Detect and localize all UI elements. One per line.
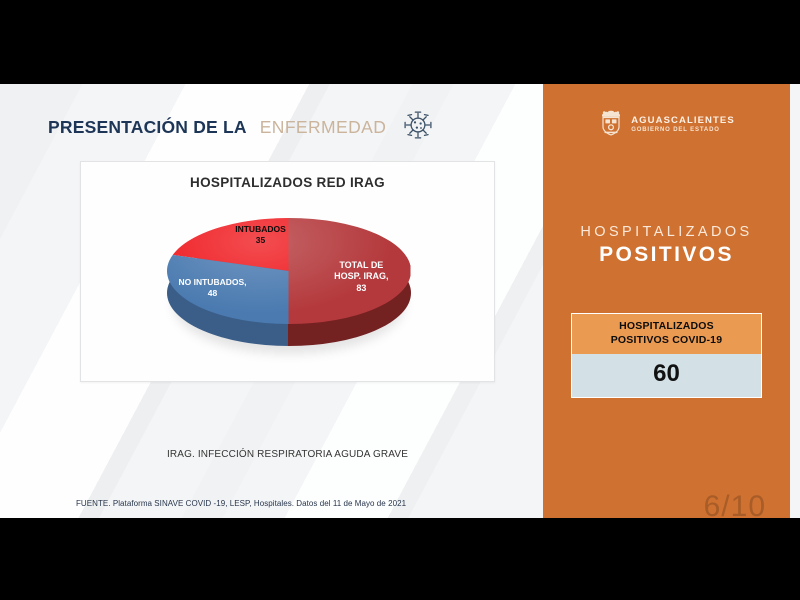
page-number: 6/10 (704, 490, 766, 518)
pie-label-intubados-value: 35 (235, 235, 286, 246)
brand-text: AGUASCALIENTES GOBIERNO DEL ESTADO (631, 116, 735, 134)
chart-card: HOSPITALIZADOS RED IRAG INTUBADOS 35 NO … (80, 161, 495, 382)
headline-strong-text: PRESENTACIÓN DE LA (48, 117, 247, 138)
panel-heading: HOSPITALIZADOS POSITIVOS (543, 224, 790, 267)
pie-label-no-intubados-name: NO INTUBADOS, (179, 277, 247, 288)
stat-card-header: HOSPITALIZADOS POSITIVOS COVID-19 (572, 314, 761, 354)
brand-lockup: AGUASCALIENTES GOBIERNO DEL ESTADO (543, 107, 790, 142)
slide-headline: PRESENTACIÓN DE LA ENFERMEDAD (48, 110, 433, 145)
screenshot-viewport: PRESENTACIÓN DE LA ENFERMEDAD (0, 0, 800, 600)
headline-light-text: ENFERMEDAD (260, 117, 387, 138)
pie-label-total-name-line1: TOTAL DE (334, 260, 388, 271)
stat-card-title-line2: POSITIVOS COVID-19 (576, 334, 757, 348)
brand-sub: GOBIERNO DEL ESTADO (631, 127, 735, 133)
stat-card-title-line1: HOSPITALIZADOS (576, 320, 757, 334)
pie-label-intubados: INTUBADOS 35 (235, 224, 286, 245)
panel-heading-top: HOSPITALIZADOS (543, 224, 790, 240)
chart-title: HOSPITALIZADOS RED IRAG (81, 175, 494, 190)
stat-card-value: 60 (572, 354, 761, 397)
coat-of-arms-icon (598, 107, 624, 142)
pie-label-total-value: 83 (334, 283, 388, 294)
coronavirus-icon (403, 110, 433, 145)
brand-name: AGUASCALIENTES (631, 116, 735, 126)
stat-card-hospitalizados-positivos: HOSPITALIZADOS POSITIVOS COVID-19 60 (571, 313, 762, 398)
chart-caption: IRAG. INFECCIÓN RESPIRATORIA AGUDA GRAVE (80, 449, 495, 460)
slide-right-gutter (790, 84, 800, 518)
presentation-slide: PRESENTACIÓN DE LA ENFERMEDAD (0, 84, 800, 518)
pie-label-total-hosp-irag: TOTAL DE HOSP. IRAG, 83 (334, 260, 388, 294)
panel-heading-bottom: POSITIVOS (543, 243, 790, 267)
pie-label-no-intubados-value: 48 (179, 288, 247, 299)
pie-chart: INTUBADOS 35 NO INTUBADOS, 48 TOTAL DE H… (167, 210, 411, 370)
source-note: FUENTE. Plataforma SINAVE COVID -19, LES… (76, 499, 406, 508)
pie-label-intubados-name: INTUBADOS (235, 224, 286, 235)
orange-side-panel: AGUASCALIENTES GOBIERNO DEL ESTADO HOSPI… (543, 84, 790, 518)
pie-label-total-name-line2: HOSP. IRAG, (334, 271, 388, 282)
pie-label-no-intubados: NO INTUBADOS, 48 (179, 277, 247, 298)
